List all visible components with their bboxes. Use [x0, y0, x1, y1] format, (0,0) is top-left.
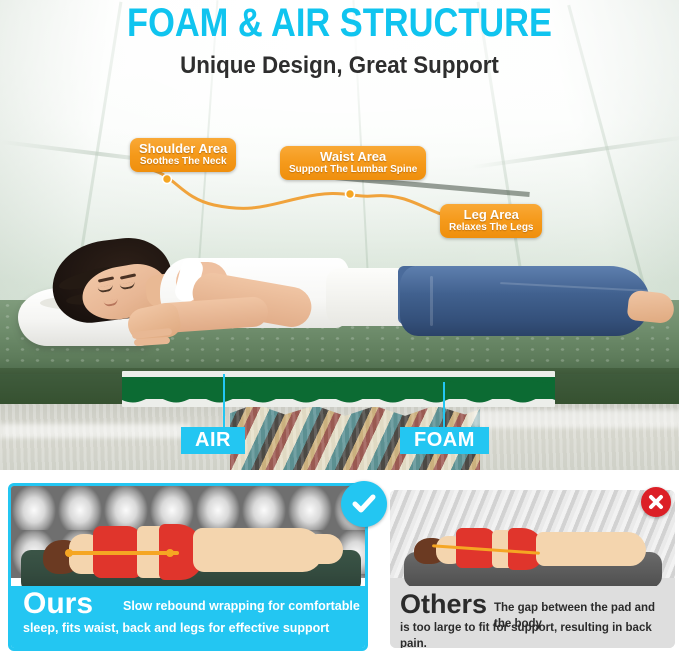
wave-top — [122, 375, 555, 384]
callout-shoulder-area[interactable]: Shoulder Area Soothes The Neck — [130, 138, 236, 172]
wave-bottom — [122, 396, 555, 405]
ours-feet — [307, 534, 343, 564]
foam-leader-line — [443, 382, 445, 428]
ground-fold — [470, 410, 679, 428]
ground-fold — [0, 424, 190, 438]
others-description-line2: is too large to fit for support, resulti… — [400, 620, 672, 648]
ours-alignment-dot — [65, 549, 73, 557]
comparison-panel-ours: Ours Slow rebound wrapping for comfortab… — [8, 483, 368, 651]
check-icon — [341, 481, 387, 527]
ours-description-line2: sleep, fits waist, back and legs for eff… — [23, 620, 363, 637]
jeans-seam — [430, 276, 433, 326]
callout-title: Waist Area — [289, 149, 417, 164]
ours-alignment-dot — [166, 549, 174, 557]
ours-legs — [193, 528, 323, 572]
callout-title: Shoulder Area — [139, 141, 227, 156]
infographic-page: Shoulder Area Soothes The Neck Waist Are… — [0, 0, 679, 659]
ours-alignment-line — [69, 551, 179, 555]
tag-foam: FOAM — [400, 427, 489, 454]
x-icon — [641, 487, 671, 517]
others-legs — [536, 532, 646, 566]
air-leader-line — [223, 374, 225, 428]
ours-caption-band: Ours Slow rebound wrapping for comfortab… — [11, 586, 365, 648]
comparison-panel-others: Others The gap between the pad and the b… — [390, 490, 675, 648]
callout-subtitle: Relaxes The Legs — [449, 222, 533, 234]
jeans-legs — [400, 266, 650, 336]
others-caption-band: Others The gap between the pad and the b… — [390, 586, 675, 648]
check-glyph — [350, 490, 378, 518]
x-glyph — [646, 492, 666, 512]
page-subtitle: Unique Design, Great Support — [24, 52, 655, 80]
others-heading: Others — [400, 590, 487, 619]
callout-waist-area[interactable]: Waist Area Support The Lumbar Spine — [280, 146, 426, 180]
ours-heading: Ours — [23, 588, 93, 620]
ours-description-line1: Slow rebound wrapping for comfortable — [123, 598, 363, 615]
callout-subtitle: Support The Lumbar Spine — [289, 164, 417, 176]
page-title: FOAM & AIR STRUCTURE — [48, 1, 632, 45]
header: FOAM & AIR STRUCTURE Unique Design, Grea… — [0, 0, 679, 92]
callout-leg-area[interactable]: Leg Area Relaxes The Legs — [440, 204, 542, 238]
callout-title: Leg Area — [449, 207, 533, 222]
foam-air-cross-section — [122, 371, 555, 407]
callout-subtitle: Soothes The Neck — [139, 156, 227, 168]
tag-air: AIR — [181, 427, 245, 454]
